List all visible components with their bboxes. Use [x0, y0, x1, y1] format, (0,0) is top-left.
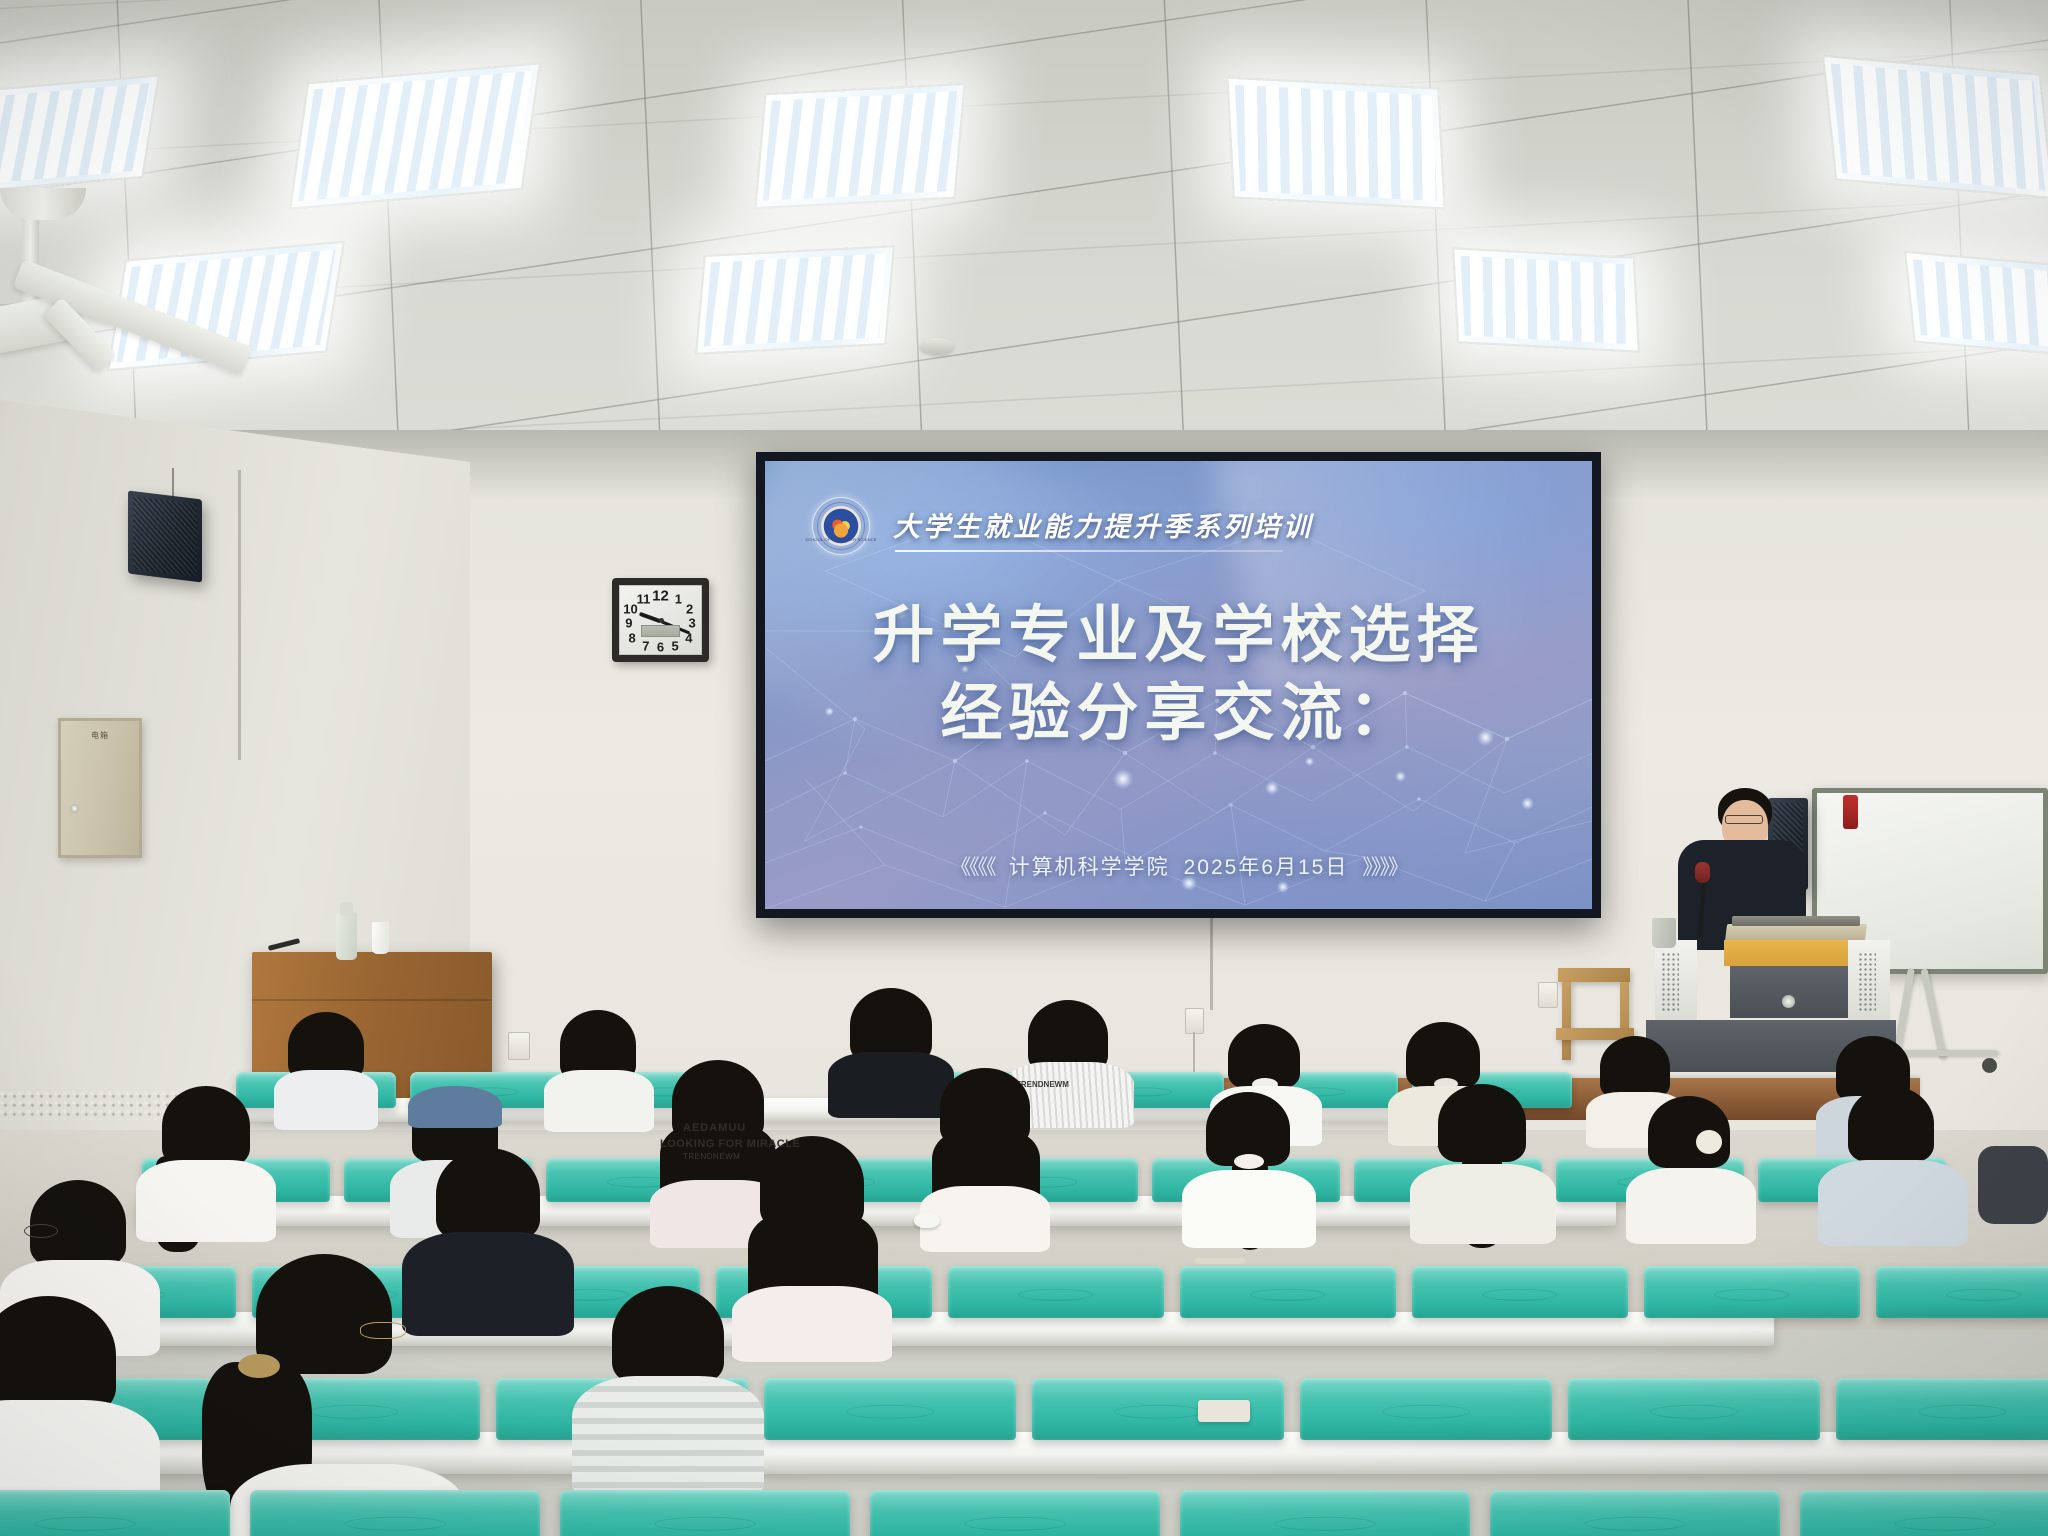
student-hair — [1438, 1084, 1526, 1162]
student-glasses-icon — [24, 1224, 58, 1238]
student-glasses-icon — [360, 1322, 406, 1339]
slide-bokeh-dot — [1277, 881, 1289, 893]
student-hair — [1848, 1086, 1934, 1162]
student-torso — [274, 1070, 378, 1130]
student-torso — [1182, 1170, 1316, 1248]
seat[interactable] — [870, 1490, 1160, 1536]
seat[interactable] — [560, 1490, 850, 1536]
clock-numeral: 12 — [652, 588, 669, 605]
backpack — [1978, 1146, 2048, 1224]
seat[interactable] — [1412, 1266, 1628, 1318]
shirt-print-line-3: TRENDNEWM — [683, 1152, 740, 1161]
clock-numeral: 2 — [686, 602, 693, 617]
seat[interactable] — [948, 1266, 1164, 1318]
lectern-front-panel — [1724, 940, 1856, 966]
clock-numeral: 7 — [642, 638, 649, 653]
student-torso — [572, 1376, 764, 1496]
wall-outlet[interactable] — [508, 1032, 530, 1060]
student-torso — [1626, 1168, 1756, 1244]
student-torso — [136, 1160, 276, 1242]
shirt-print-line-1: AEDAMUU — [683, 1122, 746, 1134]
clock-hour-hand — [638, 612, 661, 623]
student-hair — [436, 1148, 540, 1240]
wooden-chair-leg — [1562, 982, 1571, 1060]
ceiling — [0, 0, 2048, 470]
logo-ring-text: SCHOOL OF COMPUTER SCIENCE — [805, 537, 877, 542]
waste-bin — [1652, 918, 1676, 948]
ceiling-tile-grid-secondary — [0, 0, 2048, 470]
seat[interactable] — [1300, 1378, 1552, 1440]
clock-numeral: 11 — [637, 591, 651, 606]
school-logo-icon: SCHOOL OF COMPUTER SCIENCE — [812, 497, 870, 555]
seat[interactable] — [250, 1490, 540, 1536]
ceiling-light-panel — [695, 245, 895, 355]
hair-scrunchie — [238, 1354, 280, 1378]
desk-item-keys — [1198, 1400, 1250, 1422]
presenter-glasses-icon — [1725, 815, 1763, 824]
paper-cup — [372, 922, 389, 954]
wall-outlet[interactable] — [1185, 1008, 1204, 1034]
seat[interactable] — [764, 1378, 1016, 1440]
electrical-cabinet[interactable]: 电箱 — [58, 718, 142, 858]
whiteboard-caster-wheel — [1982, 1058, 1997, 1073]
lectern-speaker-vent — [1858, 952, 1876, 1012]
slide-bokeh-dot — [1265, 781, 1279, 795]
clock-numeral: 3 — [688, 616, 695, 631]
seat[interactable] — [1800, 1490, 2048, 1536]
student-torso — [544, 1070, 654, 1132]
wall-speaker — [128, 490, 202, 582]
student-hair — [612, 1286, 724, 1384]
logo-ring — [817, 502, 865, 550]
slide-bokeh-dot — [1395, 771, 1406, 782]
seat[interactable] — [0, 1490, 230, 1536]
microphone-head-icon — [1695, 862, 1710, 883]
slide-title-line-1: 升学专业及学校选择 — [765, 601, 1592, 670]
wall-outlet[interactable] — [1538, 982, 1558, 1008]
student-hair — [850, 988, 932, 1062]
projection-screen-frame: SCHOOL OF COMPUTER SCIENCE 大学生就业能力提升季系列培… — [756, 452, 1601, 918]
lectern-door-handle[interactable] — [1782, 995, 1795, 1008]
slide-header-title: 大学生就业能力提升季系列培训 — [893, 505, 1313, 544]
ceiling-light-panel — [289, 62, 541, 210]
clock-numeral: 9 — [625, 616, 632, 631]
clock-lcd-window — [641, 625, 680, 637]
wall-clock: 12 1 2 3 4 5 6 7 8 9 10 11 — [612, 578, 709, 662]
student-torso — [828, 1052, 954, 1118]
seat[interactable] — [1180, 1266, 1396, 1318]
seat[interactable] — [1490, 1490, 1780, 1536]
student-torso — [1818, 1160, 1968, 1246]
wooden-chair-back — [1558, 968, 1630, 982]
clock-numeral: 6 — [657, 640, 664, 655]
seat[interactable] — [1180, 1490, 1470, 1536]
presentation-slide: SCHOOL OF COMPUTER SCIENCE 大学生就业能力提升季系列培… — [765, 461, 1592, 909]
student-hair — [162, 1086, 250, 1166]
whiteboard-marker-clip[interactable] — [1843, 795, 1858, 829]
wall-conduit — [238, 470, 241, 760]
student-hair — [30, 1180, 126, 1266]
seat[interactable] — [1836, 1378, 2048, 1440]
lecture-hall-photo: 电箱 12 1 2 3 4 5 6 7 8 9 10 11 — [0, 0, 2048, 1536]
slide-footer: 《《《《 计算机科学学院 2025年6月15日 》》》》 — [765, 851, 1592, 881]
cabinet-lock[interactable] — [70, 804, 79, 813]
slide-bokeh-dot — [1521, 797, 1534, 810]
smoke-detector — [920, 338, 954, 354]
slide-title-line-2: 经验分享交流： — [765, 679, 1592, 748]
clock-numeral: 10 — [623, 602, 637, 617]
ceiling-light-panel — [1822, 55, 2048, 199]
clock-numeral: 5 — [671, 638, 678, 653]
cabinet-label: 电箱 — [91, 730, 109, 741]
lectern-speaker-vent — [1661, 952, 1679, 1012]
student-hair — [1648, 1096, 1730, 1168]
clock-numeral: 1 — [675, 591, 682, 606]
shirt-print-line-2: LOOKING FOR MIRACLE — [660, 1138, 800, 1150]
slide-footer-org: 计算机科学学院 — [1009, 851, 1170, 881]
ceiling-light-panel — [0, 74, 160, 193]
slide-bokeh-dot — [1113, 769, 1133, 789]
desk-item-mouse — [914, 1212, 940, 1228]
thermos-flask — [336, 912, 357, 960]
student-torso — [732, 1286, 892, 1362]
ceiling-light-panel — [1452, 247, 1640, 352]
chevron-right-icon: 》》》》 — [1362, 851, 1407, 881]
desk-item-pen — [1194, 1258, 1246, 1264]
thermos-cap — [340, 902, 353, 916]
ceiling-light-panel — [1904, 251, 2048, 357]
chevron-left-icon: 《《《《 — [950, 851, 995, 881]
ceiling-light-panel — [1226, 77, 1445, 210]
hair-scrunchie — [1696, 1130, 1722, 1154]
speaker-grille — [133, 496, 197, 577]
slide-bokeh-dot — [1305, 757, 1314, 766]
seat[interactable] — [1568, 1378, 1820, 1440]
hair-scrunchie — [1234, 1154, 1264, 1169]
clock-numeral: 8 — [629, 630, 636, 645]
lectern-monitor-edge — [1732, 916, 1860, 926]
slide-header-rule — [895, 550, 1283, 552]
student-hair — [256, 1254, 392, 1374]
seat[interactable] — [1876, 1266, 2048, 1318]
clock-face: 12 1 2 3 4 5 6 7 8 9 10 11 — [619, 585, 702, 655]
student-torso — [1410, 1164, 1556, 1244]
ceiling-light-panel — [754, 83, 965, 209]
clock-center-pin — [659, 618, 664, 623]
student-hair — [1600, 1036, 1670, 1098]
seat[interactable] — [1644, 1266, 1860, 1318]
student-cap — [408, 1086, 502, 1128]
lectern-cabinet-door — [1730, 966, 1848, 1018]
student-torso — [402, 1232, 574, 1336]
slide-footer-date: 2025年6月15日 — [1184, 851, 1349, 881]
